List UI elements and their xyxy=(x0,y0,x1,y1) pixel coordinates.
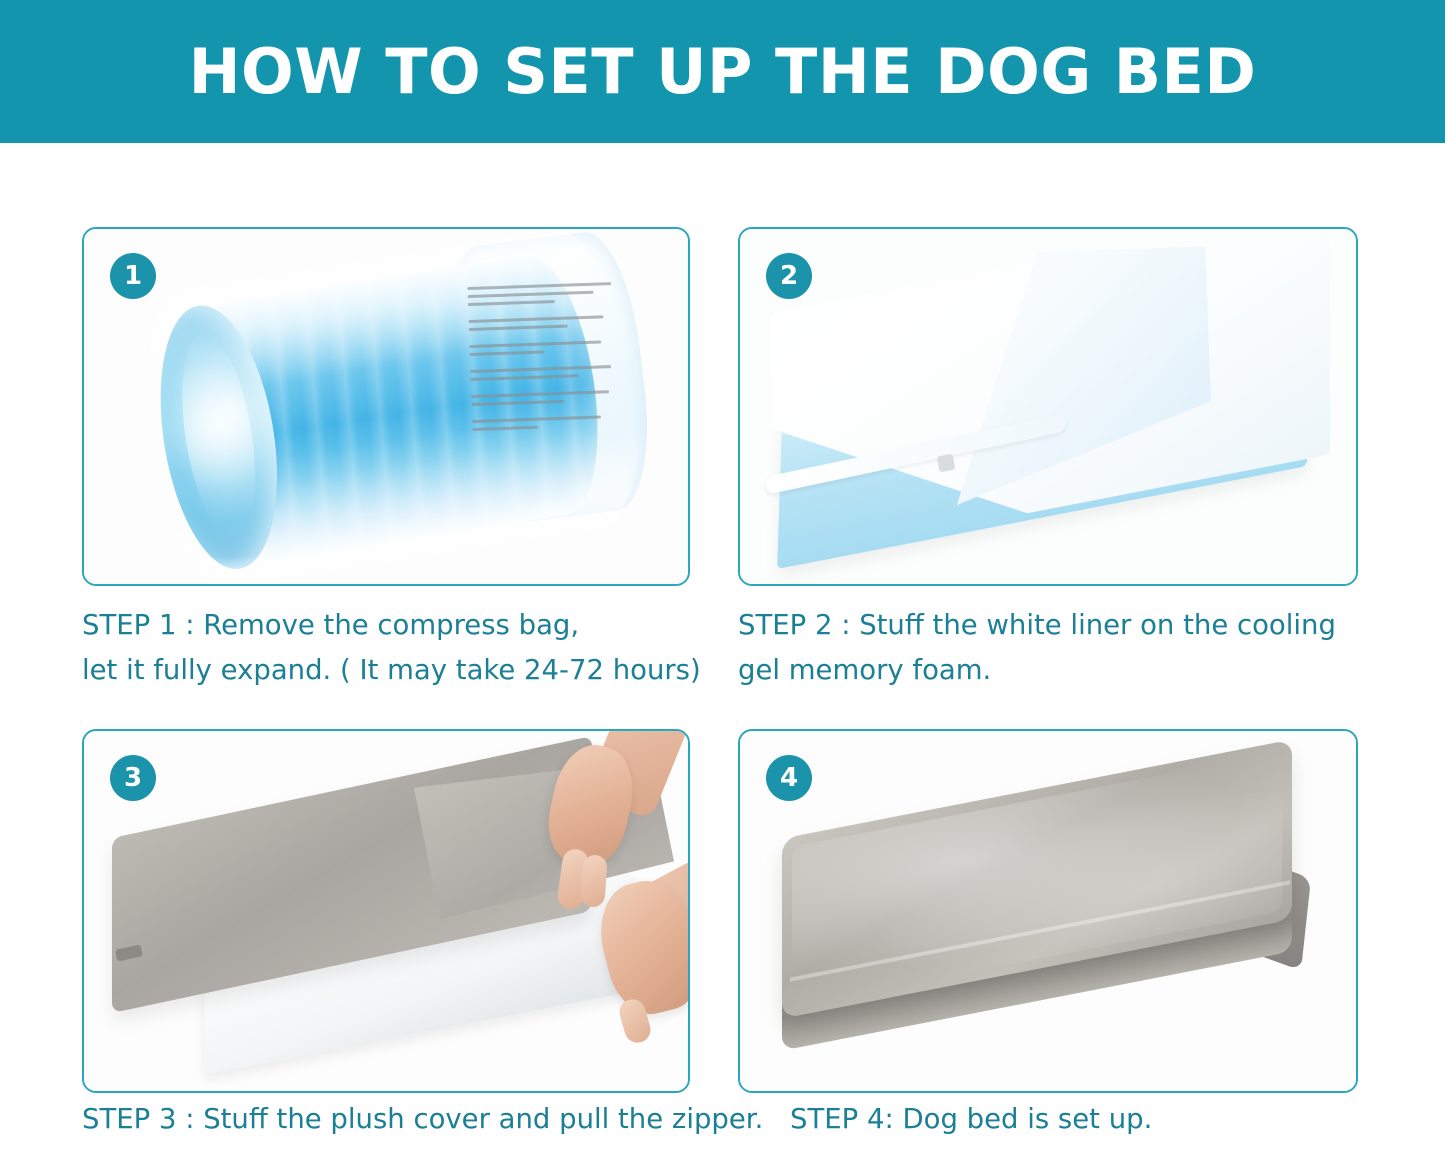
step-1-block: 1 STEP 1 : Remove the compress bag, let … xyxy=(82,227,690,692)
package-label-text xyxy=(467,282,623,473)
step-2-photo: 2 xyxy=(738,227,1358,586)
plush-cover-illustration xyxy=(84,731,688,1091)
step-2-caption: STEP 2 : Stuff the white liner on the co… xyxy=(738,603,1358,692)
step-4-photo: 4 xyxy=(738,729,1358,1093)
step-1-photo: 1 xyxy=(82,227,690,586)
step-3-photo: 3 xyxy=(82,729,690,1093)
step-1-caption-line-1: STEP 1 : Remove the compress bag, xyxy=(82,603,690,648)
step-1-caption-line-2: let it fully expand. ( It may take 24-72… xyxy=(82,648,690,693)
finished-bed-illustration xyxy=(740,731,1356,1091)
step-1-badge: 1 xyxy=(110,253,156,299)
page-header: HOW TO SET UP THE DOG BED xyxy=(0,0,1445,143)
step-4-badge: 4 xyxy=(766,755,812,801)
step-4-block: 4 xyxy=(738,729,1358,1093)
liner-foam-illustration xyxy=(740,229,1356,584)
step-3-badge: 3 xyxy=(110,755,156,801)
step-2-caption-line-1: STEP 2 : Stuff the white liner on the co… xyxy=(738,603,1358,648)
step-2-caption-line-2: gel memory foam. xyxy=(738,648,1358,693)
step-2-badge: 2 xyxy=(766,253,812,299)
steps-grid: 1 STEP 1 : Remove the compress bag, let … xyxy=(0,143,1445,1171)
zipper-pull-icon xyxy=(937,454,956,473)
bottom-captions-row: STEP 3 : Stuff the plush cover and pull … xyxy=(0,1103,1445,1163)
step-4-caption: STEP 4: Dog bed is set up. xyxy=(790,1103,1152,1135)
step-3-block: 3 xyxy=(82,729,690,1093)
step-3-caption: STEP 3 : Stuff the plush cover and pull … xyxy=(82,1103,763,1135)
step-2-block: 2 STEP 2 : Stuff the white liner on the … xyxy=(738,227,1358,692)
page-title: HOW TO SET UP THE DOG BED xyxy=(189,35,1257,108)
compressed-bag-illustration xyxy=(84,229,688,584)
step-1-caption: STEP 1 : Remove the compress bag, let it… xyxy=(82,603,690,692)
